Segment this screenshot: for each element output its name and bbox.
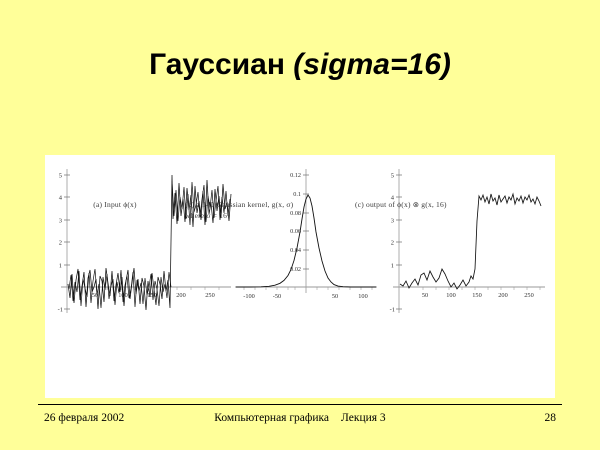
caption-panel-b: (b) a 1-D Gaussian kernel, g(x, σ) where… [185, 200, 345, 222]
chart-b-svg: 0.12 0.1 0.08 0.06 0.04 0.02 [231, 161, 381, 321]
page-title-italic: (sigma=16) [293, 48, 451, 81]
caption-panel-b-line2: where σ = 16 [185, 211, 345, 222]
footer: 26 февраля 2002 Компьютерная графикаЛекц… [38, 412, 562, 430]
chart-panel-c: 5 4 3 2 1 -1 [385, 161, 550, 321]
svg-text:50: 50 [332, 293, 338, 300]
footer-divider [38, 404, 562, 405]
svg-text:-100: -100 [243, 293, 255, 300]
svg-text:0.1: 0.1 [293, 191, 301, 198]
footer-page-number: 28 [545, 412, 557, 424]
svg-text:0.12: 0.12 [290, 172, 301, 179]
figure-image: 5 4 3 2 1 -1 [45, 155, 555, 398]
svg-text:-50: -50 [273, 293, 281, 300]
svg-text:-1: -1 [58, 307, 63, 314]
svg-text:200: 200 [498, 292, 507, 299]
page-title: Гауссиан (sigma=16) [0, 48, 600, 82]
svg-text:1: 1 [391, 263, 394, 270]
svg-text:150: 150 [472, 292, 481, 299]
svg-text:1: 1 [59, 263, 62, 270]
svg-text:-1: -1 [390, 307, 395, 314]
page-title-plain: Гауссиан [149, 48, 293, 81]
footer-center: Компьютерная графикаЛекция 3 [38, 412, 562, 424]
svg-text:3: 3 [59, 218, 62, 225]
footer-course: Компьютерная графика [214, 412, 329, 424]
caption-panel-b-line1: (b) a 1-D Gaussian kernel, g(x, σ) [185, 200, 345, 211]
svg-text:5: 5 [391, 173, 394, 180]
caption-panel-a: (a) Input ϕ(x) [50, 200, 180, 211]
chart-a-svg: 5 4 3 2 1 -1 [51, 161, 236, 321]
chart-panel-b: 0.12 0.1 0.08 0.06 0.04 0.02 [231, 161, 381, 321]
svg-text:100: 100 [358, 293, 367, 300]
svg-text:100: 100 [446, 292, 455, 299]
svg-text:250: 250 [205, 292, 214, 299]
svg-text:3: 3 [391, 218, 394, 225]
svg-text:200: 200 [176, 292, 185, 299]
svg-text:50: 50 [422, 292, 428, 299]
slide: Гауссиан (sigma=16) [0, 0, 600, 450]
footer-lecture: Лекция 3 [341, 412, 386, 424]
figure-panels: 5 4 3 2 1 -1 [45, 155, 555, 398]
chart-panel-a: 5 4 3 2 1 -1 [51, 161, 236, 321]
svg-text:2: 2 [59, 240, 62, 247]
svg-text:250: 250 [524, 292, 533, 299]
caption-panel-c: (c) output of ϕ(x) ⊗ g(x, 16) [355, 200, 510, 211]
svg-text:2: 2 [391, 240, 394, 247]
chart-c-svg: 5 4 3 2 1 -1 [385, 161, 550, 321]
svg-text:5: 5 [59, 173, 62, 180]
